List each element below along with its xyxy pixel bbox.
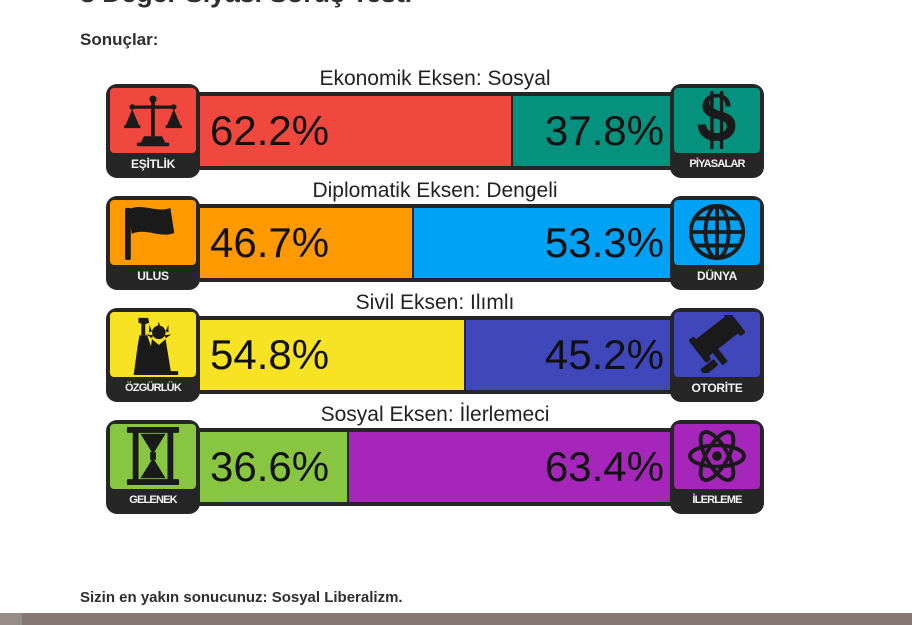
bar-value-right: 63.4% xyxy=(543,446,666,488)
window-bottom-strip xyxy=(0,613,912,625)
bar-value-right: 53.3% xyxy=(543,222,666,264)
atom-icon xyxy=(674,424,760,489)
bar-value-left: 62.2% xyxy=(208,110,331,152)
page-title: 8 Değer Siyasi Soruş Testi xyxy=(80,0,412,9)
axis-block-societal: Sosyal Eksen: İlerlemeci xyxy=(110,402,760,506)
closest-match-text: Sizin en yakın sonucunuz: Sosyal Liberal… xyxy=(80,589,403,606)
badge-left-tradition: GELENEK xyxy=(106,420,200,514)
badge-label: GELENEK xyxy=(110,489,196,510)
axis-bar-economic: EŞİTLİK 62.2% 37.8% xyxy=(110,92,760,170)
badge-right-world: DÜNYA xyxy=(670,196,764,290)
statue-of-liberty-icon xyxy=(110,312,196,377)
badge-left-equality: EŞİTLİK xyxy=(106,84,200,178)
bar-track: 62.2% 37.8% xyxy=(114,96,756,166)
globe-icon xyxy=(674,200,760,265)
badge-left-liberty: ÖZGÜRLÜK xyxy=(106,308,200,402)
results-chart: Ekonomik Eksen: Sosyal xyxy=(110,66,760,514)
bar-value-right: 45.2% xyxy=(543,334,666,376)
axis-title: Sosyal Eksen: İlerlemeci xyxy=(110,402,760,428)
badge-right-progress: İLERLEME xyxy=(670,420,764,514)
axis-title: Diplomatik Eksen: Dengeli xyxy=(110,178,760,204)
axis-bar-diplomatic: ULUS 46.7% 53.3% xyxy=(110,204,760,282)
gavel-icon xyxy=(674,312,760,377)
bar-value-left: 46.7% xyxy=(208,222,331,264)
axis-block-diplomatic: Diplomatik Eksen: Dengeli ULUS 46.7% xyxy=(110,178,760,282)
dollar-icon xyxy=(674,88,760,153)
axis-bar-societal: GELENEK 36.6% 63.4% xyxy=(110,428,760,506)
badge-right-markets: PİYASALAR xyxy=(670,84,764,178)
badge-label: ULUS xyxy=(110,265,196,286)
bar-value-left: 36.6% xyxy=(208,446,331,488)
flag-icon xyxy=(110,200,196,265)
hourglass-icon xyxy=(110,424,196,489)
axis-block-economic: Ekonomik Eksen: Sosyal xyxy=(110,66,760,170)
badge-label: ÖZGÜRLÜK xyxy=(110,377,196,398)
badge-label: EŞİTLİK xyxy=(110,153,196,174)
badge-label: PİYASALAR xyxy=(674,153,760,174)
badge-right-authority: OTORİTE xyxy=(670,308,764,402)
bar-track: 46.7% 53.3% xyxy=(114,208,756,278)
badge-label: OTORİTE xyxy=(674,377,760,398)
bar-track: 54.8% 45.2% xyxy=(114,320,756,390)
scales-icon xyxy=(110,88,196,153)
bar-value-left: 54.8% xyxy=(208,334,331,376)
badge-label: İLERLEME xyxy=(674,489,760,510)
bar-value-right: 37.8% xyxy=(543,110,666,152)
bar-track: 36.6% 63.4% xyxy=(114,432,756,502)
axis-block-civil: Sivil Eksen: Ilımlı xyxy=(110,290,760,394)
axis-title: Ekonomik Eksen: Sosyal xyxy=(110,66,760,92)
axis-bar-civil: ÖZGÜRLÜK 54.8% 45.2% xyxy=(110,316,760,394)
axis-title: Sivil Eksen: Ilımlı xyxy=(110,290,760,316)
window-bottom-strip-cap xyxy=(0,613,22,625)
badge-left-nation: ULUS xyxy=(106,196,200,290)
badge-label: DÜNYA xyxy=(674,265,760,286)
results-label: Sonuçlar: xyxy=(80,30,158,50)
